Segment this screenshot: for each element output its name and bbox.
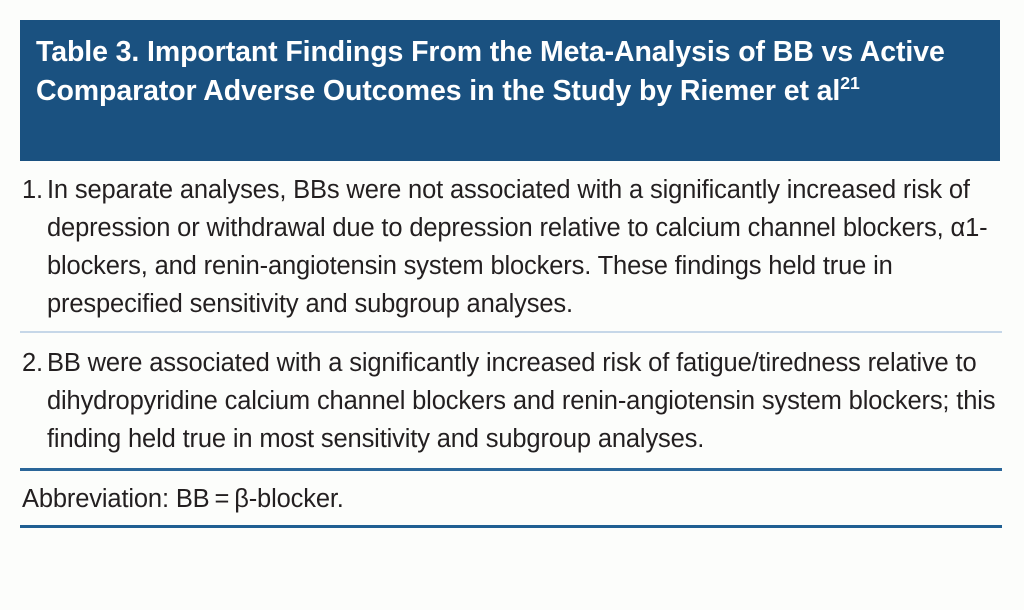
finding-text-1: In separate analyses, BBs were not assoc… (47, 171, 1008, 323)
table-row: 1. In separate analyses, BBs were not as… (20, 161, 1008, 331)
table-figure: Table 3. Important Findings From the Met… (0, 0, 1024, 610)
finding-marker-2: 2. (20, 344, 47, 382)
table-bottom-rule (20, 525, 1002, 528)
table-title: Table 3. Important Findings From the Met… (36, 33, 978, 111)
table-title-reference: 21 (840, 73, 859, 93)
footnote-abbreviation: Abbreviation: BB = β-blocker. (20, 471, 1008, 525)
table-row: 2. BB were associated with a significant… (20, 333, 1008, 466)
table-title-text: Table 3. Important Findings From the Met… (36, 36, 945, 107)
table-body: 1. In separate analyses, BBs were not as… (20, 161, 1008, 528)
finding-item-2: 2. BB were associated with a significant… (20, 344, 1008, 458)
finding-marker-1: 1. (20, 171, 47, 209)
finding-item-1: 1. In separate analyses, BBs were not as… (20, 171, 1008, 323)
finding-text-2: BB were associated with a significantly … (47, 344, 1008, 458)
table-header-banner: Table 3. Important Findings From the Met… (20, 20, 1000, 161)
